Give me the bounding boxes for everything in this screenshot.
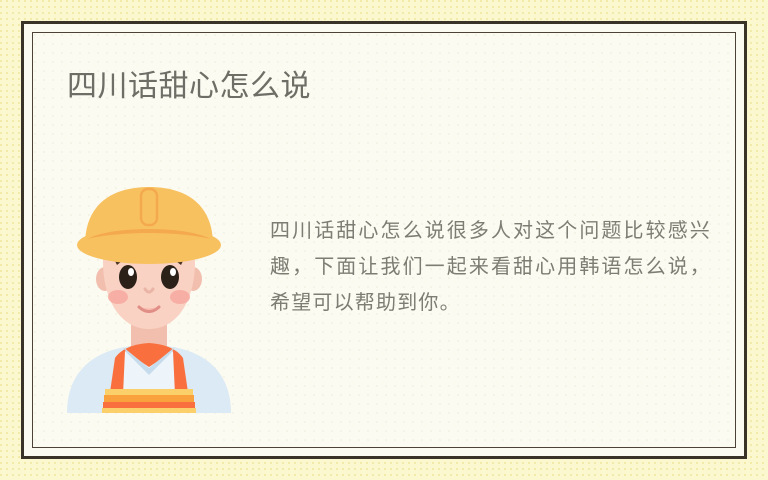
cheek-right — [170, 290, 190, 304]
stripe-light-top — [105, 389, 193, 395]
construction-worker-avatar — [59, 183, 239, 413]
eye-left — [119, 265, 137, 289]
eye-highlight-right — [170, 268, 176, 276]
stripe-orange — [103, 402, 195, 408]
page-title: 四川话甜心怎么说 — [67, 67, 311, 107]
helmet-crest — [141, 189, 157, 225]
article-content-row: 四川话甜心怎么说很多人对这个问题比较感兴趣，下面让我们一起来看甜心用韩语怎么说，… — [59, 183, 711, 413]
stripe-light-bottom — [102, 408, 196, 413]
article-body-text: 四川话甜心怎么说很多人对这个问题比较感兴趣，下面让我们一起来看甜心用韩语怎么说，… — [270, 213, 711, 321]
article-frame-inner: 四川话甜心怎么说 — [32, 32, 736, 448]
page-canvas: 四川话甜心怎么说 — [0, 0, 768, 480]
article-frame-outer: 四川话甜心怎么说 — [21, 21, 747, 459]
cheek-left — [108, 290, 128, 304]
eye-highlight-left — [128, 268, 134, 276]
eye-right — [161, 265, 179, 289]
stripe-gold — [104, 395, 194, 402]
